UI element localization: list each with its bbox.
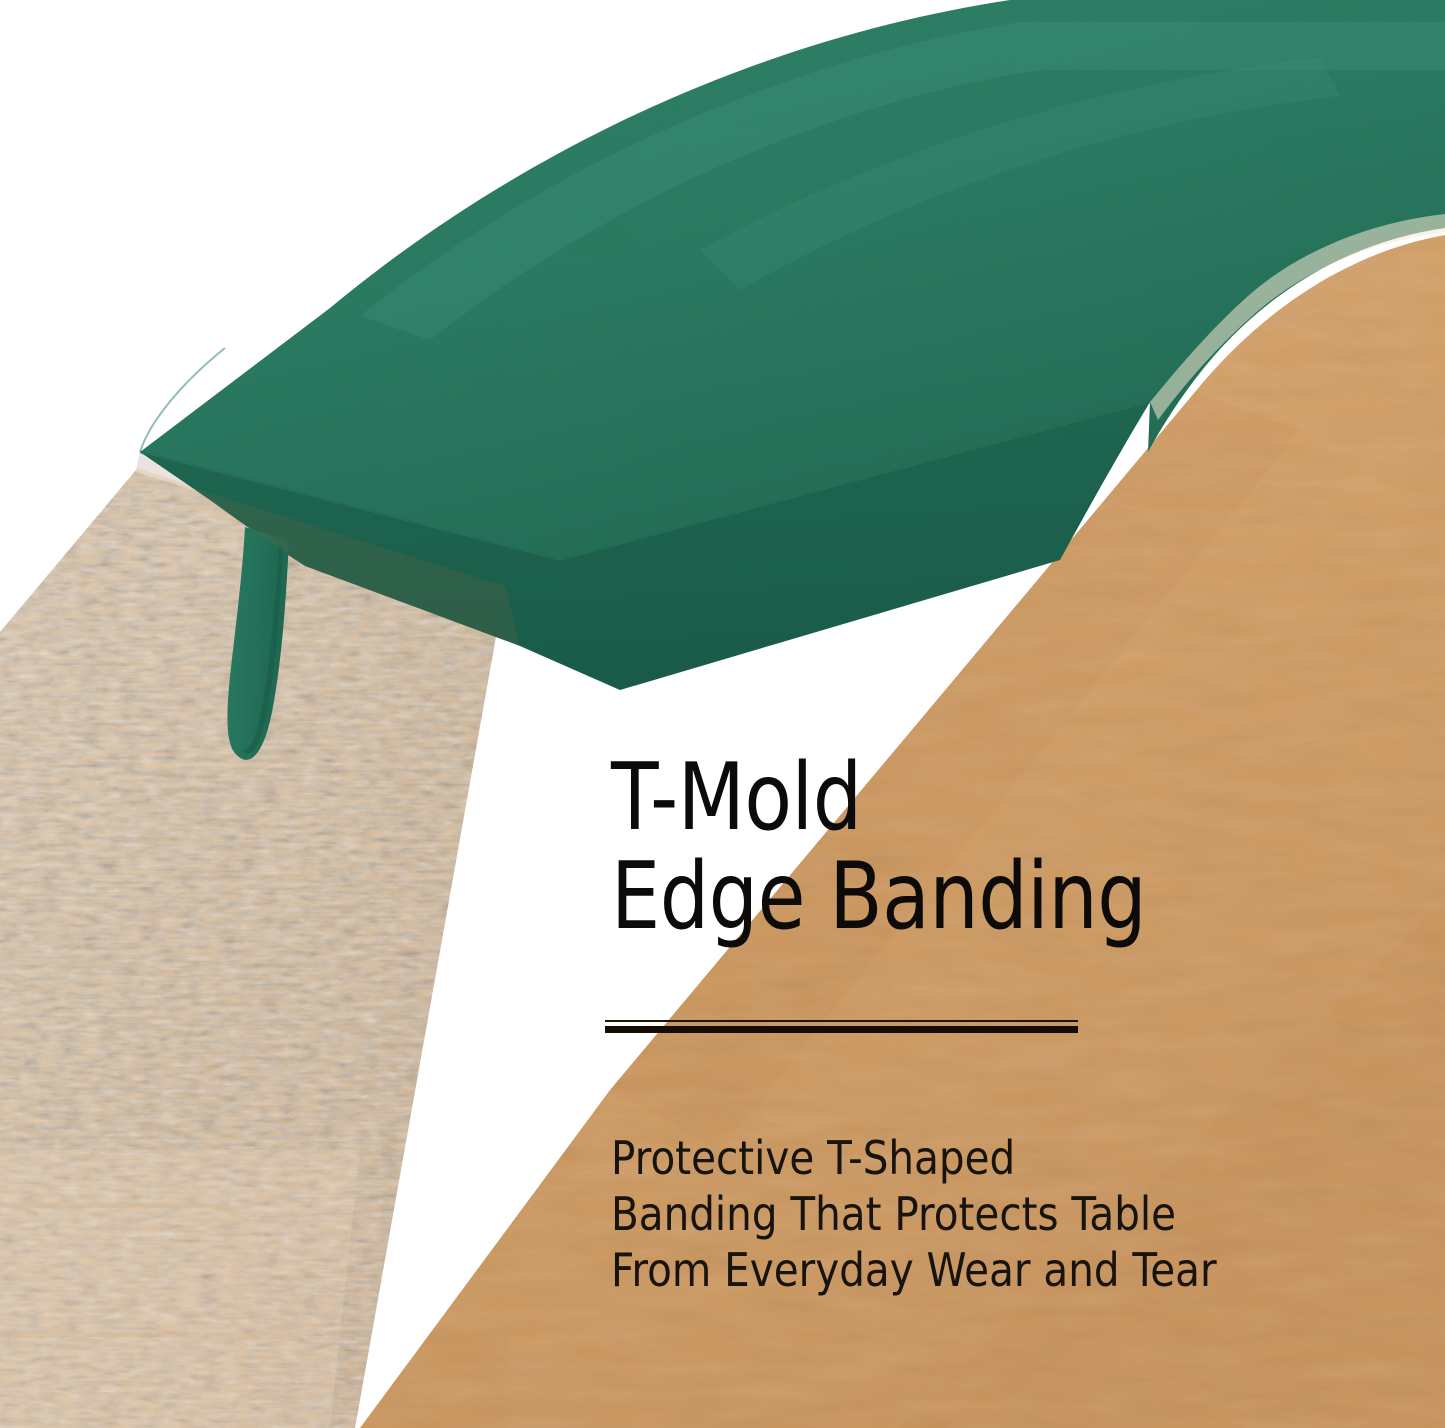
double-rule-divider: [605, 1020, 1078, 1034]
marketing-copy: T-Mold Edge Banding Protective T-Shaped …: [611, 748, 1391, 946]
rule-thick: [605, 1026, 1078, 1033]
rule-thin: [605, 1020, 1078, 1022]
page-title: T-Mold Edge Banding: [611, 748, 1336, 946]
product-feature-image: T-Mold Edge Banding Protective T-Shaped …: [0, 0, 1445, 1428]
subtitle: Protective T-Shaped Banding That Protect…: [611, 1130, 1217, 1298]
